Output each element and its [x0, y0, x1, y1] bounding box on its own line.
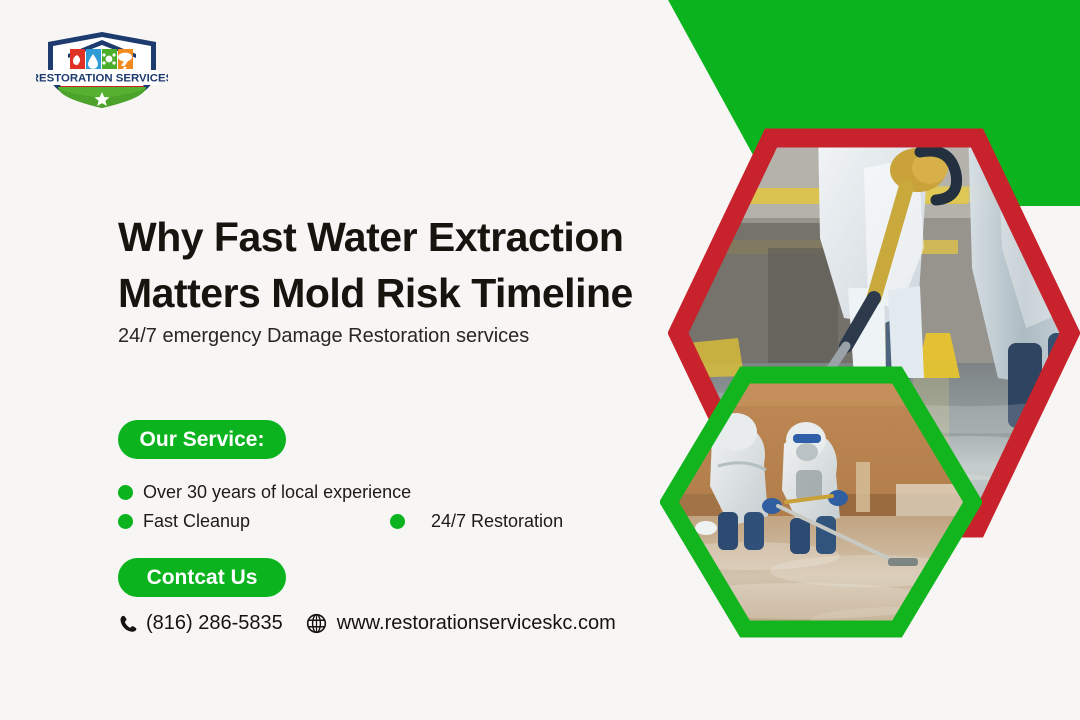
phone-link[interactable]: (816) 286-5835 [118, 612, 283, 635]
company-logo[interactable]: RESTORATION SERVICES Fire • Water • Mold… [36, 28, 168, 112]
bullet-dot-icon [118, 514, 133, 529]
list-item-label: Over 30 years of local experience [143, 482, 411, 503]
phone-number: (816) 286-5835 [146, 612, 283, 635]
phone-icon [118, 614, 137, 633]
marketing-banner: RESTORATION SERVICES Fire • Water • Mold… [0, 0, 1080, 720]
bullet-dot-icon [390, 514, 405, 529]
list-item: Fast Cleanup 24/7 Restoration [118, 507, 638, 536]
list-item: Over 30 years of local experience [118, 478, 638, 507]
contact-us-button[interactable]: Contcat Us [118, 558, 286, 597]
list-item: 24/7 Restoration [390, 511, 563, 532]
list-item-label: Fast Cleanup [143, 511, 250, 532]
bullet-dot-icon [118, 485, 133, 500]
headline-line-2: Matters Mold Risk Timeline [118, 265, 688, 321]
contact-info: (816) 286-5835 www.restorationserviceskc… [118, 612, 616, 635]
our-service-badge: Our Service: [118, 420, 286, 459]
website-link[interactable]: www.restorationserviceskc.com [305, 612, 616, 635]
subtitle: 24/7 emergency Damage Restoration servic… [118, 325, 529, 348]
headline-line-1: Why Fast Water Extraction [118, 209, 688, 265]
globe-icon [305, 612, 328, 635]
page-title: Why Fast Water Extraction Matters Mold R… [118, 209, 688, 321]
cleanup-crew-photo [660, 366, 982, 638]
logo-wordmark: RESTORATION SERVICES [36, 73, 168, 85]
service-list: Over 30 years of local experience Fast C… [118, 478, 638, 536]
website-url: www.restorationserviceskc.com [337, 612, 616, 635]
list-item-label: 24/7 Restoration [431, 511, 563, 532]
